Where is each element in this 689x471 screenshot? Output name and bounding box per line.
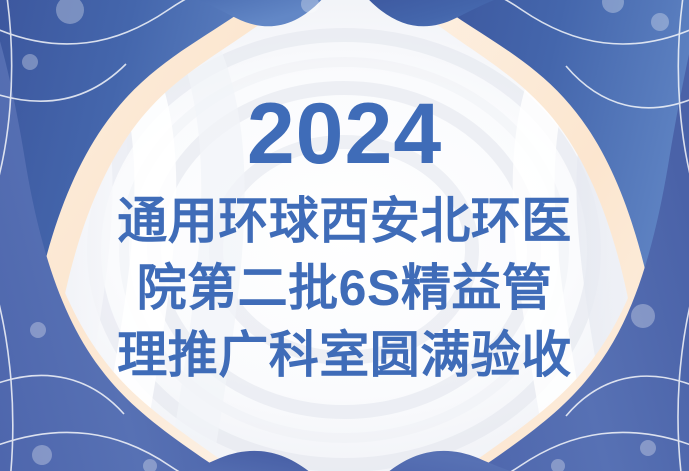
poster-banner: 2024 通用环球西安北环医 院第二批6S精益管 理推广科室圆满验收 (0, 0, 689, 471)
headline-line-1: 通用环球西安北环医 (117, 188, 572, 255)
headline: 通用环球西安北环医 院第二批6S精益管 理推广科室圆满验收 (117, 188, 572, 389)
year-heading: 2024 (247, 94, 442, 176)
headline-line-3: 理推广科室圆满验收 (117, 322, 572, 389)
headline-line-2: 院第二批6S精益管 (117, 255, 572, 322)
poster-text-block: 2024 通用环球西安北环医 院第二批6S精益管 理推广科室圆满验收 (0, 0, 689, 471)
